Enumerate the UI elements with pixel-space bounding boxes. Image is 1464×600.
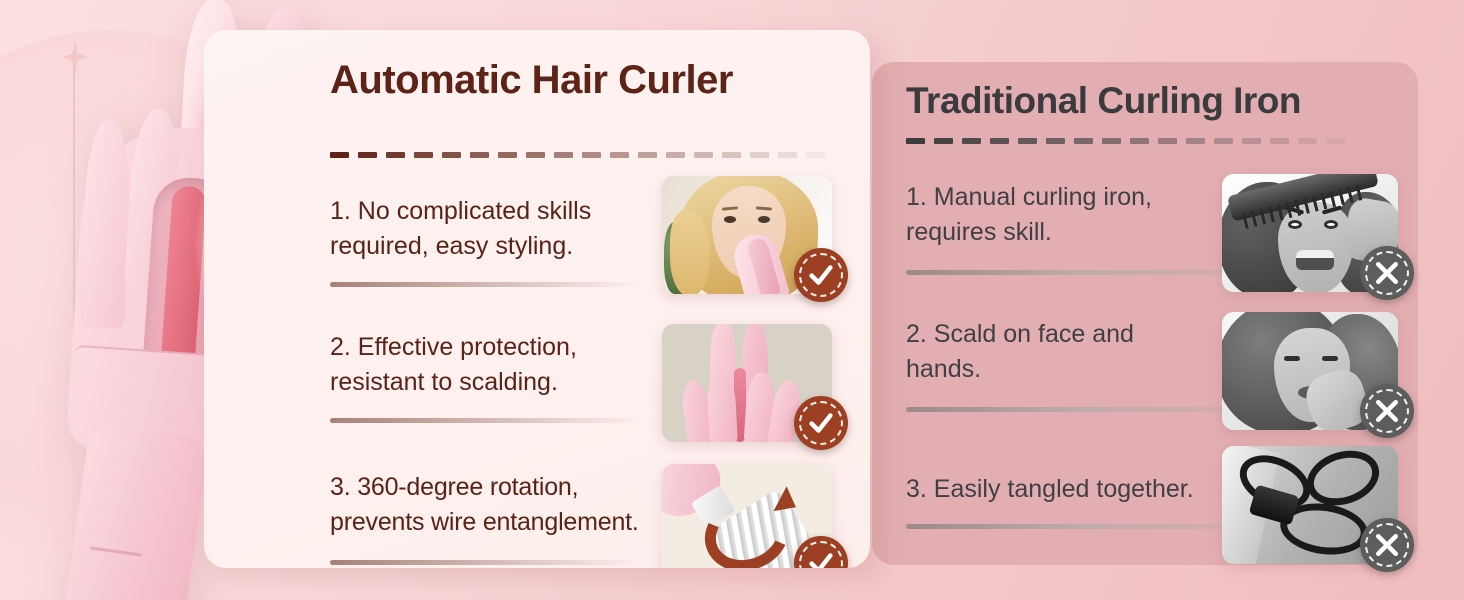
divider-dash	[1130, 138, 1149, 144]
right-feature-2-text: 2. Scald on face and hands.	[906, 317, 1226, 386]
check-icon	[794, 248, 848, 302]
divider-dash	[386, 152, 405, 158]
divider-dash	[666, 152, 685, 158]
divider-dash	[990, 138, 1009, 144]
product-handle	[63, 423, 210, 600]
divider-dash	[1186, 138, 1205, 144]
left-feature-3: 3. 360-degree rotation, prevents wire en…	[330, 470, 660, 539]
divider-dash	[962, 138, 981, 144]
left-thumbnail-3	[662, 464, 832, 568]
divider-dash	[1298, 138, 1317, 144]
divider-dash	[750, 152, 769, 158]
right-feature-3: 3. Easily tangled together.	[906, 472, 1226, 507]
divider-dash	[1214, 138, 1233, 144]
right-feature-2: 2. Scald on face and hands.	[906, 317, 1226, 386]
right-thumbnail-2	[1222, 312, 1398, 430]
left-feature-2-text: 2. Effective protection, resistant to sc…	[330, 330, 660, 399]
right-thumbnail-1	[1222, 174, 1398, 292]
divider-dash	[722, 152, 741, 158]
divider-dash	[442, 152, 461, 158]
divider-dash	[1046, 138, 1065, 144]
left-feature-2: 2. Effective protection, resistant to sc…	[330, 330, 660, 399]
divider-dash	[1326, 138, 1345, 144]
right-card-title: Traditional Curling Iron	[906, 80, 1301, 122]
divider-dash	[498, 152, 517, 158]
check-icon	[794, 396, 848, 450]
divider-dash	[934, 138, 953, 144]
divider-dash	[582, 152, 601, 158]
cross-icon	[1360, 518, 1414, 572]
right-thumbnail-3	[1222, 446, 1398, 564]
cross-icon	[1360, 384, 1414, 438]
divider-dash	[1102, 138, 1121, 144]
divider-dash	[638, 152, 657, 158]
left-feature-1-text: 1. No complicated skills required, easy …	[330, 194, 660, 263]
cross-icon	[1360, 246, 1414, 300]
left-thumbnail-2	[662, 324, 832, 442]
left-feature-1-rule	[330, 282, 640, 287]
traditional-curling-iron-card: Traditional Curling Iron 1. Manual curli…	[872, 62, 1418, 565]
divider-dash	[1242, 138, 1261, 144]
right-feature-1: 1. Manual curling iron, requires skill.	[906, 180, 1226, 249]
right-feature-1-text: 1. Manual curling iron, requires skill.	[906, 180, 1226, 249]
divider-dash	[1074, 138, 1093, 144]
left-thumbnail-1	[662, 176, 832, 294]
divider-dash	[330, 152, 349, 158]
automatic-hair-curler-card: Automatic Hair Curler 1. No complicated …	[204, 30, 870, 568]
divider-dash	[1158, 138, 1177, 144]
divider-dash	[358, 152, 377, 158]
infographic-stage: Traditional Curling Iron 1. Manual curli…	[0, 0, 1464, 600]
left-feature-1: 1. No complicated skills required, easy …	[330, 194, 660, 263]
right-feature-3-text: 3. Easily tangled together.	[906, 472, 1226, 507]
divider-dash	[1018, 138, 1037, 144]
right-card-divider	[906, 138, 1376, 144]
divider-dash	[694, 152, 713, 158]
divider-dash	[470, 152, 489, 158]
left-feature-2-rule	[330, 418, 640, 423]
left-feature-3-rule	[330, 560, 640, 565]
product-fin-1	[80, 117, 131, 328]
divider-dash	[554, 152, 573, 158]
divider-dash	[526, 152, 545, 158]
divider-dash	[1270, 138, 1289, 144]
divider-dash	[806, 152, 825, 158]
divider-dash	[906, 138, 925, 144]
left-card-divider	[330, 152, 850, 158]
divider-dash	[778, 152, 797, 158]
divider-dash	[414, 152, 433, 158]
left-feature-3-text: 3. 360-degree rotation, prevents wire en…	[330, 470, 660, 539]
left-card-title: Automatic Hair Curler	[330, 58, 733, 103]
divider-dash	[610, 152, 629, 158]
